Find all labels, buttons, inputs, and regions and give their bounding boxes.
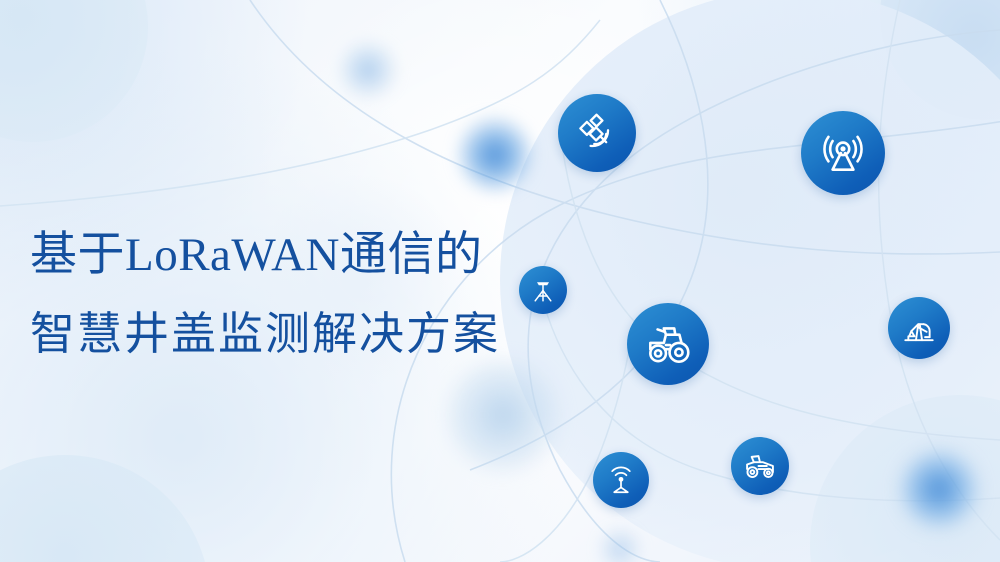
bokeh-dot-bottom-right [898,448,980,530]
bokeh-dot-upper-center [456,116,534,194]
wifi-beacon-icon [604,463,638,497]
slide-canvas: 基于LoRaWAN通信的 智慧井盖监测解决方案 [0,0,1000,562]
page-title-line-1: 基于LoRaWAN通信的 [30,232,550,279]
harvester-icon [741,447,779,485]
page-title-line-2: 智慧井盖监测解决方案 [30,311,550,356]
tractor-icon [642,318,694,370]
node-satellite[interactable] [558,94,636,172]
bokeh-dot-lower-center [448,360,558,470]
satellite-icon [574,110,620,156]
node-wifi-beacon[interactable] [593,452,649,508]
node-antenna[interactable] [801,111,885,195]
title-block: 基于LoRaWAN通信的 智慧井盖监测解决方案 [30,232,550,356]
node-oil-pump[interactable] [888,297,950,359]
oil-pump-icon [900,309,938,347]
bokeh-dot-top [340,42,396,98]
node-tractor[interactable] [627,303,709,385]
antenna-icon [817,127,869,179]
node-harvester[interactable] [731,437,789,495]
